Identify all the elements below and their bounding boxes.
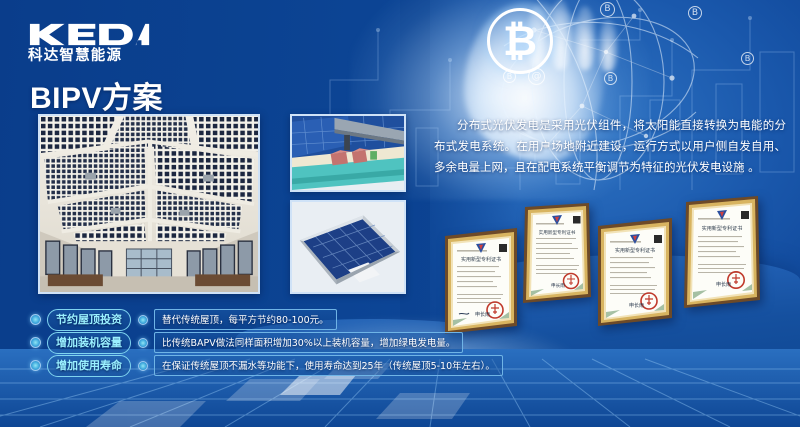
feature-label-1: 节约屋顶投资 (47, 309, 131, 331)
feature-label-2: 增加装机容量 (47, 332, 131, 354)
brand-logo[interactable]: 科达智慧能源 (28, 22, 156, 65)
feature-label-3: 增加使用寿命 (47, 355, 131, 377)
svg-text:申长雨: 申长雨 (475, 311, 490, 318)
bitcoin-mini-icon-1: B (600, 2, 615, 17)
svg-text:实用新型专利证书: 实用新型专利证书 (539, 229, 576, 236)
keda-wordmark-icon (28, 22, 151, 47)
svg-text:实用新型专利证书: 实用新型专利证书 (702, 225, 743, 232)
patent-certificate-2[interactable]: 实用新型专利证书 申长雨 (521, 203, 593, 303)
solar-module-render (290, 200, 406, 294)
feature-list: 节约屋顶投资 替代传统屋顶，每平方节约80-100元。 增加装机容量 比传统BA… (30, 308, 470, 377)
bitcoin-mini-icon-2: B (688, 6, 702, 20)
svg-text:申长雨: 申长雨 (716, 281, 731, 288)
feature-detail-2: 比传统BAPV做法同样面积增加30%以上装机容量，增加绿电发电量。 (154, 332, 463, 353)
feature-row-1[interactable]: 节约屋顶投资 替代传统屋顶，每平方节约80-100元。 (30, 308, 470, 331)
brand-logo-subtitle: 科达智慧能源 (28, 48, 156, 65)
patent-certificate-3[interactable]: 实用新型专利证书 申长雨 (596, 218, 674, 326)
panel-mounting-detail-render (290, 114, 406, 192)
svg-text:申长雨: 申长雨 (629, 302, 644, 309)
feature-detail-1: 替代传统屋顶，每平方节约80-100元。 (154, 309, 337, 330)
bitcoin-mini-icon-5: @ (528, 68, 545, 85)
bitcoin-mini-icon-6: B (503, 70, 516, 83)
svg-text:申长雨: 申长雨 (551, 282, 565, 289)
feature-row-2[interactable]: 增加装机容量 比传统BAPV做法同样面积增加30%以上装机容量，增加绿电发电量。 (30, 331, 470, 354)
poster-canvas: ₿ B B B B @ B (0, 0, 800, 427)
description-paragraph: 分布式光伏发电是采用光伏组件，将太阳能直接转换为电能的分布式发电系统。在用户场地… (434, 115, 786, 178)
svg-text:实用新型专利证书: 实用新型专利证书 (615, 247, 655, 254)
bitcoin-icon: ₿ (487, 8, 553, 74)
page-title: BIPV方案 (30, 73, 163, 117)
bullet-dot-icon (138, 361, 148, 371)
bitcoin-mini-icon-3: B (741, 52, 754, 65)
bullet-dot-icon (30, 360, 41, 371)
svg-text:实用新型专利证书: 实用新型专利证书 (461, 256, 501, 263)
bullet-dot-icon (138, 338, 148, 348)
bipv-skylight-atrium-photo (38, 114, 260, 294)
bitcoin-mini-icon-4: B (604, 72, 617, 85)
patent-certificate-4[interactable]: 实用新型专利证书 申长雨 (682, 196, 762, 308)
bullet-dot-icon (138, 315, 148, 325)
bullet-dot-icon (30, 314, 41, 325)
feature-detail-3: 在保证传统屋顶不漏水等功能下，使用寿命达到25年（传统屋顶5-10年左右）。 (154, 355, 503, 376)
feature-row-3[interactable]: 增加使用寿命 在保证传统屋顶不漏水等功能下，使用寿命达到25年（传统屋顶5-10… (30, 354, 470, 377)
bullet-dot-icon (30, 337, 41, 348)
